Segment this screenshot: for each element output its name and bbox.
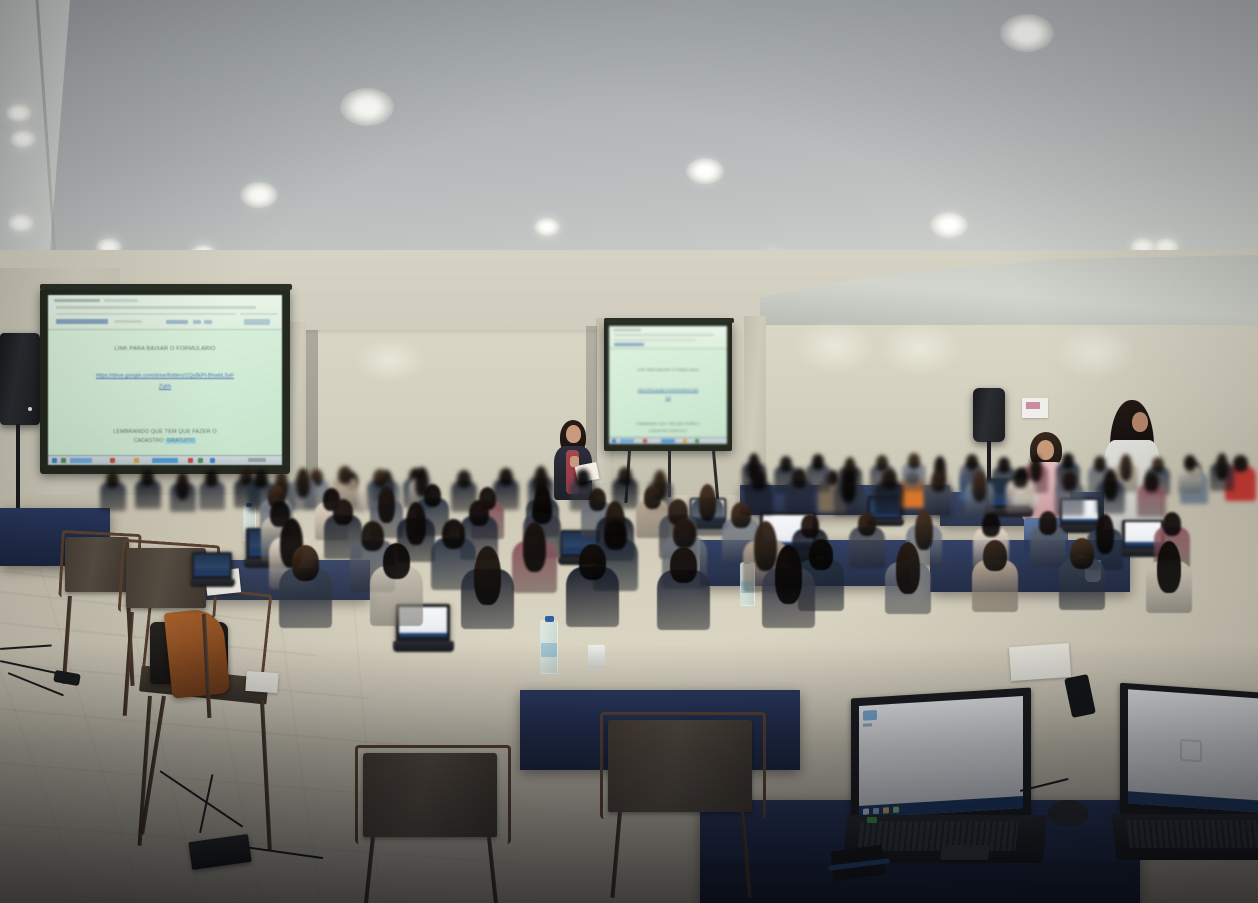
audience-member-head — [106, 471, 119, 488]
audience-member — [657, 547, 710, 639]
audience-member — [461, 546, 514, 638]
screen-left-browser-chrome — [48, 295, 282, 330]
audience-member-head — [966, 454, 979, 470]
audience-member-head — [673, 518, 696, 548]
audience-member — [170, 472, 196, 516]
audience-member-head — [896, 542, 920, 594]
laptop-foreground-center-display[interactable] — [859, 696, 1023, 818]
audience-member-head — [1152, 457, 1165, 473]
audience-member-head — [1013, 468, 1028, 488]
laptop-base — [393, 641, 453, 652]
pa-speaker-left — [0, 333, 40, 425]
audience-member-head — [338, 466, 352, 484]
audience-member-head — [457, 470, 471, 488]
pa-speaker-left-pole — [16, 424, 20, 512]
audience-member-head — [1157, 541, 1181, 593]
chair-foreground-left[interactable] — [355, 745, 515, 903]
audience-member — [1178, 455, 1202, 497]
audience-member-head — [576, 469, 590, 487]
audience-member-head — [1039, 511, 1058, 535]
water-bottle-1[interactable] — [540, 620, 558, 674]
screen-right-taskbar — [609, 437, 727, 444]
audience-member-head — [983, 540, 1007, 571]
presenter-hand — [570, 456, 579, 467]
paper-sheet-2 — [1009, 643, 1071, 681]
audience-member-head — [972, 470, 987, 502]
laptop-foreground-center-touchpad[interactable] — [940, 845, 990, 860]
audience-member-head — [1103, 469, 1118, 501]
audience-member-head — [292, 545, 320, 581]
audience-member-head — [176, 472, 189, 500]
projection-screen-left: LINK PARA BAIXAR O FORMULARIO https://dr… — [48, 295, 282, 465]
audience-member-head — [1062, 471, 1077, 491]
audience-member-head — [141, 469, 154, 486]
cup-1[interactable] — [588, 645, 605, 669]
audience-member — [1210, 453, 1234, 495]
screen-left-link-line2[interactable]: Zq6h — [48, 384, 282, 392]
screen-right-link-line2[interactable]: Zq6 — [609, 396, 727, 401]
screen-left-heading: LINK PARA BAIXAR O FORMULARIO — [48, 345, 282, 353]
audience-member-head — [1184, 455, 1197, 471]
screen-left-taskbar — [48, 455, 282, 465]
audience-member-head — [841, 471, 856, 503]
conference-room-photo: LINK PARA BAIXAR O FORMULARIO https://dr… — [0, 0, 1258, 903]
audience-member-head — [1163, 512, 1182, 536]
audience-member-head — [670, 547, 698, 583]
audience-member — [199, 470, 225, 514]
audience-member-head — [532, 498, 552, 524]
laptop-foreground-right-keyboard[interactable] — [1127, 820, 1258, 848]
audience-member-head — [775, 545, 803, 604]
screen-left-footer-line1: LEMBRANDO QUE TEM QUE FAZER O — [48, 428, 282, 436]
audience-member — [100, 471, 126, 515]
audience-member-head — [406, 502, 426, 545]
audience-member — [849, 512, 885, 574]
audience-member-head — [1062, 453, 1075, 469]
door-jamb-left — [306, 330, 318, 480]
pa-speaker-right — [973, 388, 1005, 442]
audience-member-head — [579, 544, 607, 580]
audience-member-head — [792, 468, 807, 488]
audience-member-head — [858, 512, 877, 536]
audience-member — [566, 544, 619, 636]
paper-sheet-3 — [245, 671, 278, 693]
laptop-display[interactable] — [194, 554, 229, 576]
screen-right-footer-line1: LEMBRANDO QUE TEM QUE FAZER O — [609, 422, 727, 427]
audience-member-head — [499, 468, 513, 486]
laptop-foreground-center[interactable] — [845, 693, 1045, 868]
audience-member — [902, 453, 926, 495]
audience-member — [279, 545, 332, 637]
audience-member — [512, 522, 557, 600]
wall-light-glow-2 — [880, 322, 960, 376]
audience-member-head — [618, 467, 632, 485]
audience-member — [785, 468, 814, 518]
wall-light-glow-3 — [1055, 325, 1135, 379]
wall-light-glow-4 — [355, 338, 425, 382]
audience-member — [885, 542, 931, 622]
audience-member-head — [296, 468, 310, 498]
screen-right-mount-bar — [604, 318, 734, 323]
audience-member-head — [751, 470, 766, 490]
screen-left-link-line1[interactable]: https://drive.google.com/drive/folders/1… — [48, 373, 282, 381]
audience-member-head — [373, 469, 387, 487]
audience-member — [370, 543, 423, 635]
audience-member-head — [523, 522, 546, 572]
audience-member — [135, 469, 161, 513]
audience-member-head — [931, 472, 946, 492]
screen-left-footer-line2: CADASTRO — [134, 438, 164, 444]
audience-member-head — [442, 519, 465, 549]
audience-member-head — [378, 486, 395, 523]
audience-member — [762, 545, 815, 637]
audience-member — [1146, 541, 1192, 621]
wall-sign-graphic — [1026, 402, 1040, 409]
laptop-brand-sticker — [867, 817, 877, 823]
audience-member-head — [1144, 472, 1159, 492]
laptop-audience-7[interactable] — [192, 552, 232, 589]
presenter-head — [566, 425, 581, 443]
audience-member-head — [383, 543, 411, 579]
audience-member — [972, 540, 1018, 620]
screen-right-browser-chrome — [609, 326, 727, 349]
screen-left-mount-bar — [40, 284, 292, 290]
audience-member-head — [982, 513, 1001, 537]
audience-member-head — [1216, 453, 1229, 480]
audience-member-head — [1070, 538, 1094, 569]
screen-right-footer-line2: CADASTRO GRATUITO — [609, 429, 727, 434]
screen-right-heading: LINK PARA BAIXAR O FORMULARIO — [609, 368, 727, 373]
laptop-foreground-right-display[interactable] — [1128, 689, 1258, 813]
wall-light-glow-1 — [795, 320, 875, 374]
laptop-base — [190, 579, 235, 587]
audience-member-head — [699, 484, 716, 521]
audience-member-head — [474, 546, 502, 605]
audience-member — [1096, 469, 1125, 519]
screen-left-footer-highlight: GRATUITO — [165, 438, 196, 444]
projection-screen-right: LINK PARA BAIXAR O FORMULARIO https://dr… — [609, 326, 727, 444]
chair-foreground-center[interactable] — [600, 712, 770, 903]
audience-member-head — [801, 514, 820, 538]
audience-member-head — [1233, 455, 1248, 472]
computer-mouse[interactable] — [1048, 800, 1088, 826]
audience-member-head — [882, 469, 897, 489]
audience-member-head — [205, 470, 218, 487]
audience-member — [1059, 538, 1105, 618]
screen-right-link-line1[interactable]: https://drive.google.com/drive/folders/1… — [609, 388, 727, 393]
audience-member-head — [908, 453, 921, 469]
laptop-foreground-right[interactable] — [1120, 688, 1258, 863]
